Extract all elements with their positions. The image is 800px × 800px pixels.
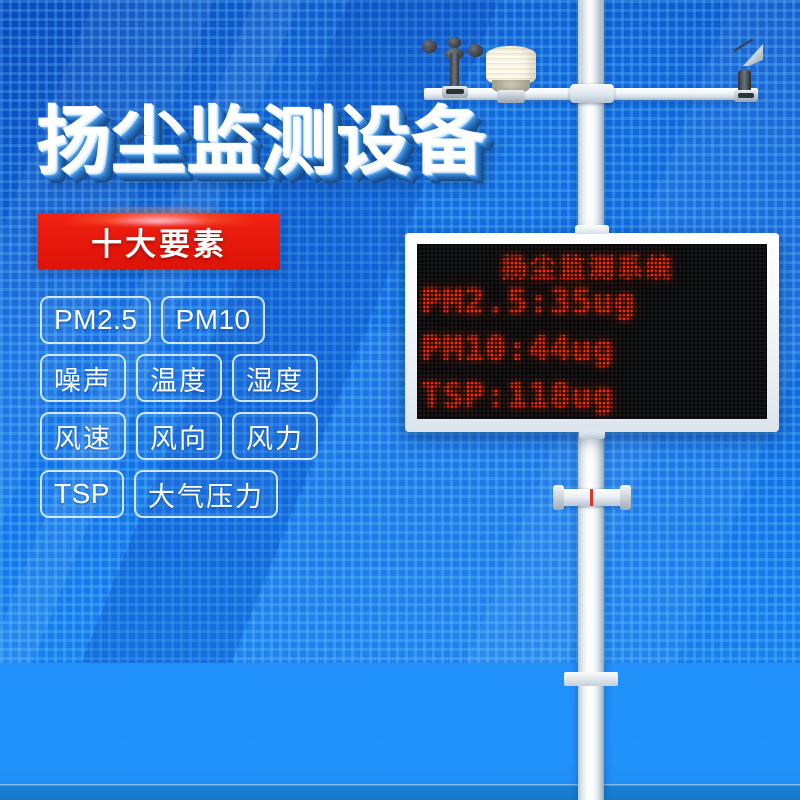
tag-air-pressure[interactable]: 大气压力 <box>134 470 278 518</box>
tag-row: 噪声 温度 湿度 <box>40 354 370 402</box>
led-reading-tsp: TSP:118ug <box>421 376 614 416</box>
tag-wind-force[interactable]: 风力 <box>232 412 318 460</box>
tag-humidity[interactable]: 湿度 <box>232 354 318 402</box>
feature-badge: 十大要素 <box>38 213 280 269</box>
tag-pm10[interactable]: PM10 <box>161 296 264 344</box>
anemometer-icon <box>424 38 484 92</box>
crossbar-collar <box>570 84 614 103</box>
ground-band <box>0 663 800 800</box>
mast-base-plate <box>564 672 618 686</box>
page-title: 扬尘监测设备 <box>36 104 486 178</box>
tag-temperature[interactable]: 温度 <box>136 354 222 402</box>
tag-row: 风速 风向 风力 <box>40 412 370 460</box>
led-display-board: 扬尘监测系统 PM2.5:35ug PM10:44ug TSP:118ug <box>405 233 779 432</box>
led-text-lines: 扬尘监测系统 PM2.5:35ug PM10:44ug TSP:118ug <box>417 244 767 419</box>
led-screen: 扬尘监测系统 PM2.5:35ug PM10:44ug TSP:118ug <box>417 244 767 419</box>
tag-noise[interactable]: 噪声 <box>40 354 126 402</box>
tag-tsp[interactable]: TSP <box>40 470 124 518</box>
tag-wind-speed[interactable]: 风速 <box>40 412 126 460</box>
radiation-shield-icon <box>486 46 536 98</box>
led-reading-pm10: PM10:44ug <box>421 329 614 369</box>
feature-badge-label: 十大要素 <box>91 219 227 264</box>
promo-poster: 扬尘监测系统 PM2.5:35ug PM10:44ug TSP:118ug 扬尘… <box>0 0 800 800</box>
ground-edge-strip <box>0 784 800 800</box>
mast-upper-section <box>581 0 601 96</box>
led-reading-pm25: PM2.5:35ug <box>421 282 636 322</box>
pole-clamp <box>556 489 628 506</box>
tag-pm25[interactable]: PM2.5 <box>40 296 151 344</box>
tag-wind-direction[interactable]: 风向 <box>136 412 222 460</box>
wind-vane-icon <box>722 46 766 98</box>
tag-row: TSP 大气压力 <box>40 470 370 518</box>
feature-tag-list: PM2.5 PM10 噪声 温度 湿度 风速 风向 风力 TSP 大气压力 <box>40 296 370 528</box>
tag-row: PM2.5 PM10 <box>40 296 370 344</box>
led-title: 扬尘监测系统 <box>501 248 675 285</box>
